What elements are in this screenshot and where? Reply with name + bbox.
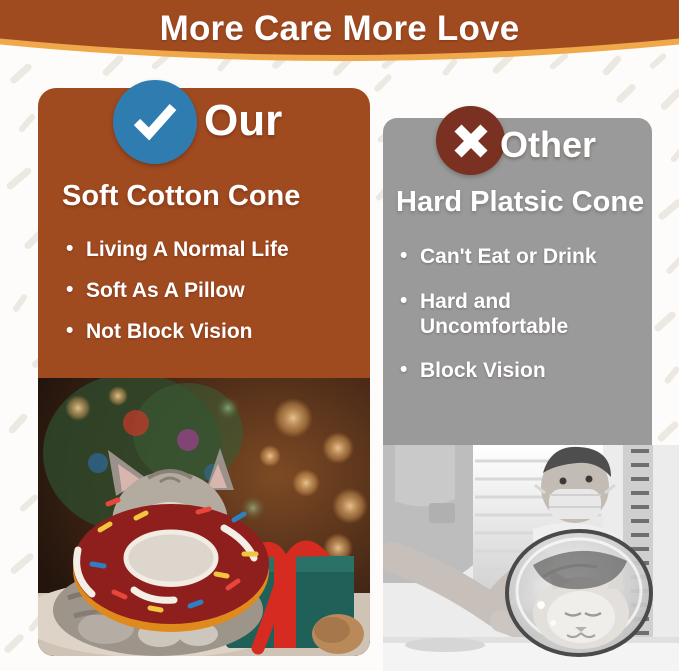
sprinkle-mark xyxy=(19,493,39,512)
sprinkle-mark xyxy=(659,88,679,111)
vet-with-plastic-cone-illustration xyxy=(383,445,679,671)
infographic-page: More Care More Love Our Soft Cotton Cone… xyxy=(0,0,679,671)
sprinkle-mark xyxy=(615,83,637,105)
sprinkle-mark xyxy=(12,293,28,313)
list-item: Soft As A Pillow xyxy=(66,279,289,304)
our-subtitle: Soft Cotton Cone xyxy=(62,180,300,213)
our-product-photo xyxy=(38,378,370,656)
sprinkle-mark xyxy=(663,365,679,384)
list-item: Hard and Uncomfortable xyxy=(400,290,597,340)
sprinkle-mark xyxy=(5,166,32,191)
sprinkle-mark xyxy=(656,420,679,443)
sprinkle-mark xyxy=(657,198,679,221)
sprinkle-mark xyxy=(18,113,37,134)
x-mark-icon xyxy=(449,119,493,163)
sprinkle-mark xyxy=(3,633,25,655)
our-word: Our xyxy=(204,96,282,146)
check-circle-icon xyxy=(113,80,197,164)
other-word: Other xyxy=(500,124,596,166)
our-bullet-list: Living A Normal Life Soft As A Pillow No… xyxy=(66,238,289,360)
other-product-photo xyxy=(383,445,679,671)
list-item: Living A Normal Life xyxy=(66,238,289,263)
other-bullet-list: Can't Eat or Drink Hard and Uncomfortabl… xyxy=(400,245,597,404)
sprinkle-mark xyxy=(665,255,679,275)
x-circle-icon xyxy=(436,106,505,175)
sprinkle-mark xyxy=(373,73,393,93)
check-mark-icon xyxy=(129,96,181,148)
list-item: Can't Eat or Drink xyxy=(400,245,597,270)
sprinkle-mark xyxy=(670,143,679,164)
list-item: Not Block Vision xyxy=(66,320,289,345)
sprinkle-mark xyxy=(7,412,28,435)
cat-with-donut-cone-illustration xyxy=(38,378,370,656)
other-subtitle: Hard Platsic Cone xyxy=(396,186,644,219)
list-item: Block Vision xyxy=(400,359,597,384)
sprinkle-mark xyxy=(653,310,677,333)
page-title: More Care More Love xyxy=(0,0,679,58)
sprinkle-mark xyxy=(9,552,35,575)
